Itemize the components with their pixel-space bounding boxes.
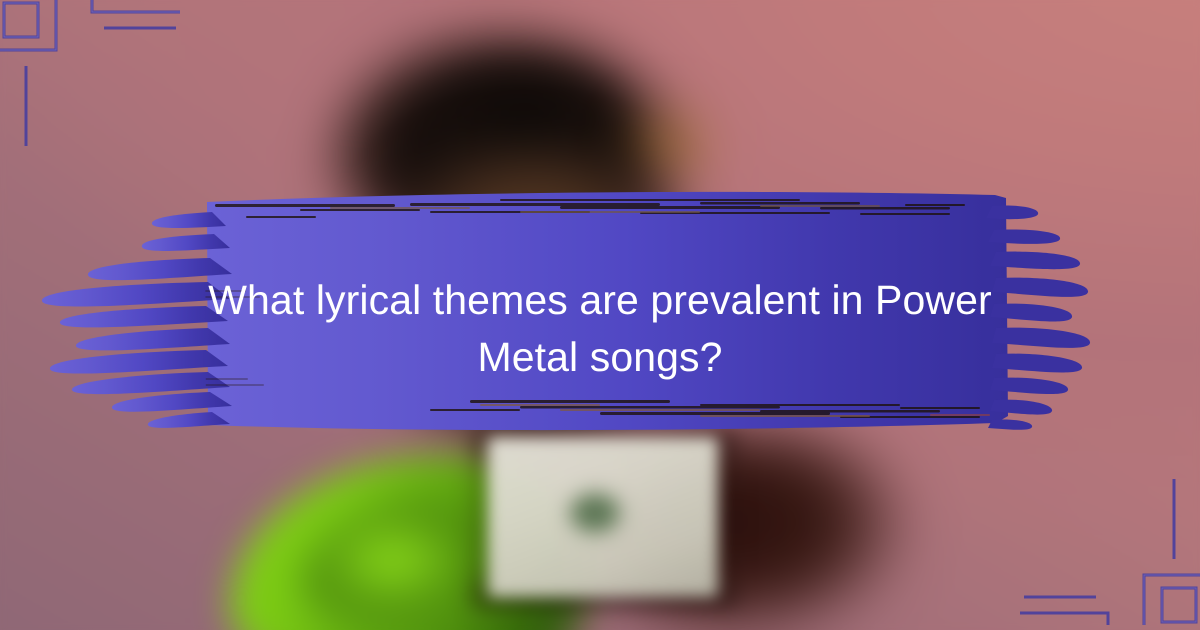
question-card: What lyrical themes are prevalent in Pow…	[0, 0, 1200, 630]
banknote-seal	[560, 485, 630, 541]
page-title: What lyrical themes are prevalent in Pow…	[0, 272, 1200, 386]
